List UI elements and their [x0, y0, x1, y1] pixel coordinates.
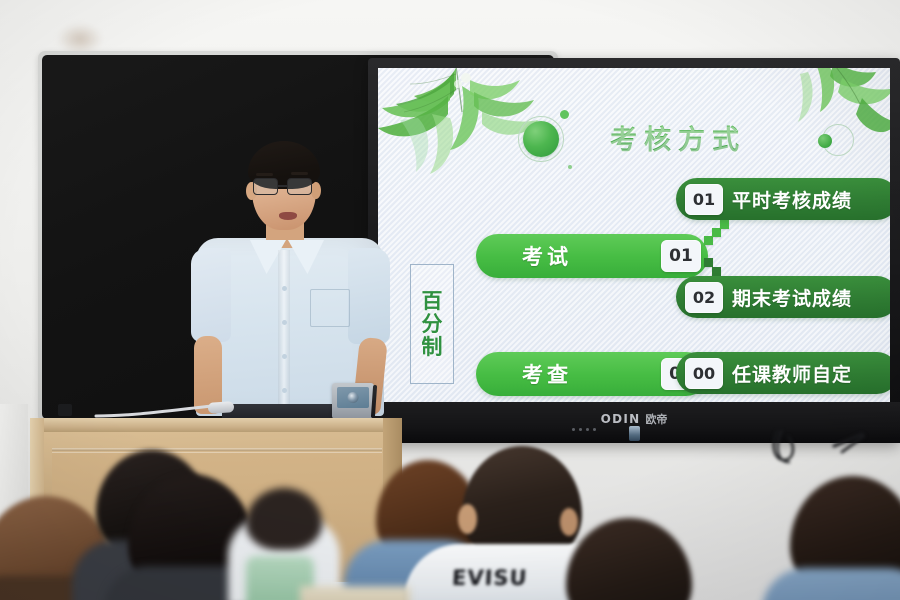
display-led-indicators: [572, 428, 596, 431]
shirt-button: [282, 286, 287, 291]
display-screen[interactable]: 考核方式 百 分 制 考试 01 考查 02: [378, 68, 890, 402]
display-brand-logo: ODIN 欧帝: [601, 411, 668, 427]
badge-char-2: 分: [422, 313, 443, 335]
badge-char-3: 制: [422, 336, 443, 358]
category-number-exam: 01: [661, 240, 701, 272]
category-label-exam: 考试: [522, 241, 572, 271]
display-bezel-bottom: ODIN 欧帝: [368, 402, 900, 443]
podium-device[interactable]: [332, 383, 374, 419]
detail-pill-3[interactable]: 00 任课教师自定: [676, 352, 890, 394]
shirt-button: [282, 354, 287, 359]
slide-title: 考核方式: [610, 118, 746, 157]
student-ear: [560, 508, 578, 536]
badge-char-1: 百: [422, 290, 443, 312]
microphone-head: [208, 401, 235, 414]
podium-seam: [52, 448, 382, 451]
detail-number-3: 00: [685, 358, 723, 389]
connector-stair-up: [704, 218, 732, 248]
presenter-eyebrow-left: [256, 173, 273, 176]
microphone-base: [58, 404, 72, 416]
shirt-button: [282, 388, 287, 393]
wall-smudge: [58, 24, 102, 54]
presenter-sleeve-left: [191, 248, 231, 342]
interactive-display[interactable]: 考核方式 百 分 制 考试 01 考查 02: [368, 58, 900, 443]
decorative-dot-small: [560, 110, 569, 119]
detail-label-1: 平时考核成绩: [732, 186, 852, 213]
brand-name: ODIN: [601, 412, 641, 426]
presenter-sleeve-right: [348, 248, 390, 344]
category-label-check: 考查: [522, 359, 572, 389]
podium-top-surface: [30, 418, 402, 433]
classroom-photo: 考核方式 百 分 制 考试 01 考查 02: [0, 0, 900, 600]
shirt-brand-text: EVISU: [451, 566, 528, 590]
presentation-slide: 考核方式 百 分 制 考试 01 考查 02: [378, 68, 890, 402]
brand-name-cn: 欧帝: [645, 411, 667, 427]
eyeglasses-icon: [252, 178, 316, 197]
decorative-dot-large: [523, 121, 559, 157]
detail-label-3: 任课教师自定: [732, 360, 852, 387]
category-pill-exam[interactable]: 考试 01: [476, 234, 708, 278]
presenter-shirt-pocket: [310, 289, 350, 327]
detail-pill-2[interactable]: 02 期末考试成绩: [676, 276, 890, 318]
detail-number-2: 02: [685, 282, 723, 313]
device-lens-icon: [348, 392, 359, 403]
grading-system-badge: 百 分 制: [410, 264, 454, 384]
detail-pill-1[interactable]: 01 平时考核成绩: [676, 178, 890, 220]
decorative-dot-medium: [818, 134, 832, 148]
student-head: [246, 488, 322, 550]
student-ear: [458, 504, 477, 534]
category-pill-check[interactable]: 考查 02: [476, 352, 708, 396]
display-ir-sensor: [629, 426, 640, 441]
shirt-button: [282, 320, 287, 325]
presenter-mouth: [279, 212, 297, 220]
presenter-eyebrow-right: [291, 172, 308, 175]
detail-label-2: 期末考试成绩: [732, 284, 852, 311]
decorative-dot-tiny: [568, 165, 572, 169]
detail-number-1: 01: [685, 184, 723, 215]
leaves-decoration-top-right: [746, 68, 890, 168]
desk-surface: [300, 586, 410, 600]
